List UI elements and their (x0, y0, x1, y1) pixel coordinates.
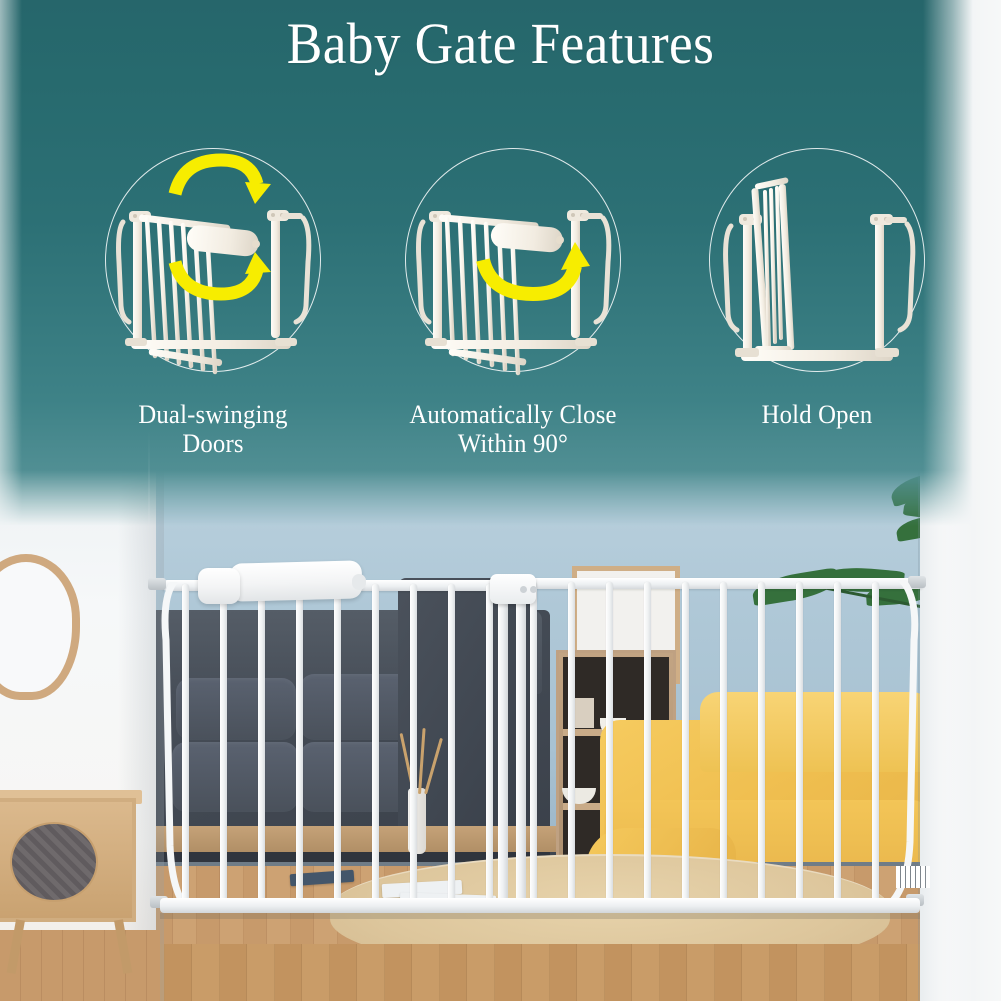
gate-bottom-rail-shadow (160, 913, 920, 919)
gate-bar (334, 584, 341, 904)
gate-latch-pin (520, 586, 527, 593)
gate-bar (568, 582, 575, 904)
feature-caption-line-2: Doors (90, 429, 337, 458)
white-baby-gate (0, 470, 1001, 1001)
feature-caption: Dual-swinging Doors (90, 400, 337, 458)
gate-bottom-rail (160, 898, 920, 913)
feature-caption-line-1: Dual-swinging (90, 400, 337, 429)
feature-caption-line-2: Within 90° (390, 429, 637, 458)
feature-caption-line-1: Hold Open (694, 400, 941, 429)
feature-caption: Hold Open (694, 400, 941, 429)
gate-bar (182, 584, 189, 904)
rotation-arrow-top-icon (167, 154, 277, 210)
gate-bar (410, 584, 417, 904)
rotation-arrow-bottom-icon (165, 244, 277, 302)
gate-bar (372, 584, 379, 904)
gate-bar (296, 584, 303, 904)
gate-bar (258, 584, 265, 904)
gate-latch-pin (530, 586, 537, 593)
gate-bar (220, 584, 227, 904)
gate-bar (758, 582, 765, 904)
gate-bar (796, 582, 803, 904)
gate-handle-knob (198, 568, 240, 604)
feature-caption-line-1: Automatically Close (390, 400, 637, 429)
gate-right-frame-post (876, 580, 924, 906)
gate-latch-post-left (498, 582, 508, 904)
product-room-photo (0, 470, 1001, 1001)
gate-bar (486, 584, 493, 904)
gate-bar (872, 582, 879, 904)
gate-bar (644, 582, 651, 904)
gate-bar (530, 582, 537, 904)
gate-latch-post-right (516, 582, 526, 904)
gate-bar (682, 582, 689, 904)
feature-caption: Automatically Close Within 90° (390, 400, 637, 458)
gate-bar (834, 582, 841, 904)
gate-bar (448, 584, 455, 904)
gate-bar (720, 582, 727, 904)
auto-close-arrow-icon (477, 240, 597, 304)
feature-dual-swinging-doors: Dual-swinging Doors (105, 148, 345, 448)
infographic-canvas: Baby Gate Features (0, 0, 1001, 1001)
gate-handle-barrel (230, 560, 363, 601)
gate-handle-endcap (352, 574, 366, 590)
page-title: Baby Gate Features (40, 12, 961, 76)
gate-bar (606, 582, 613, 904)
feature-hold-open: Hold Open (709, 148, 949, 448)
gate-top-rail-right (500, 578, 924, 589)
gate-grille-detail (896, 866, 930, 888)
feature-automatically-close: Automatically Close Within 90° (405, 148, 645, 448)
baby-gate-hold-open-illustration (717, 170, 919, 376)
